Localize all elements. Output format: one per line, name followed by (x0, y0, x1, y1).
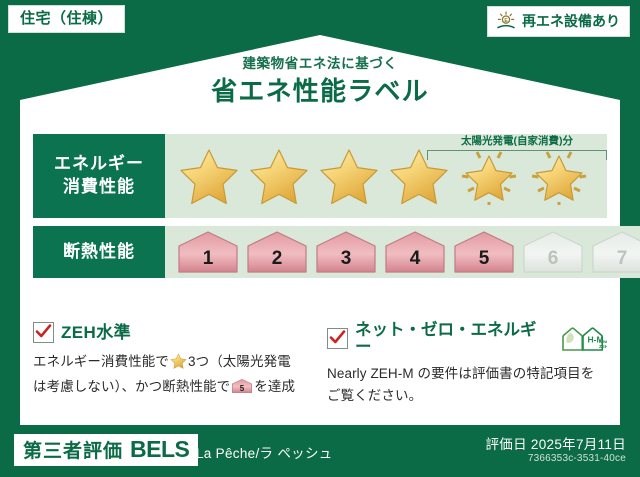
insulation-level-badge: 4 (382, 229, 448, 275)
bels-evaluation-mark: 第三者評価 BELS (14, 434, 198, 466)
statement-nze-title: ネット・ゼロ・エネルギー (355, 322, 551, 355)
page-title: 省エネ性能ラベル (0, 77, 640, 106)
statement-zeh-title: ZEH水準 (61, 324, 131, 341)
star-icon (315, 141, 383, 211)
star-icon (170, 353, 187, 376)
insulation-level-badge: 5 (451, 229, 517, 275)
energy-performance-body: 太陽光発電(自家消費)分 (165, 134, 607, 218)
building-name: La Pêche/ラ ペッシュ (196, 442, 333, 462)
checkbox-checked-icon (327, 328, 348, 349)
zeh-m-logo-icon: H-M Nearly ZEH-M (561, 326, 607, 352)
statement-zeh-header: ZEH水準 (33, 322, 313, 343)
insulation-level-number: 1 (175, 249, 241, 268)
insulation-level-number: 6 (520, 249, 586, 268)
insulation-level-number: 3 (313, 249, 379, 268)
star-solar-icon (525, 141, 593, 211)
renewable-energy-badge: E 再エネ設備あり (487, 6, 630, 37)
insulation-level-number: 4 (382, 249, 448, 268)
energy-performance-label: エネルギー 消費性能 (33, 134, 165, 218)
insulation-performance-body: 1 2 3 (165, 226, 640, 278)
insulation-level-number: 5 (451, 249, 517, 268)
insulation-level-badge: 1 (175, 229, 241, 275)
insulation-level-badge: 3 (313, 229, 379, 275)
svg-text:5: 5 (240, 384, 245, 393)
insulation-label-text: 断熱性能 (63, 241, 135, 264)
energy-performance-row: エネルギー 消費性能 (33, 134, 607, 218)
renewable-badge-label: 再エネ設備あり (522, 14, 620, 28)
star-icon (245, 141, 313, 211)
svg-text:ZEH-M: ZEH-M (599, 344, 607, 349)
insulation-level-badge-inactive: 6 (520, 229, 586, 275)
star-solar-icon (455, 141, 523, 211)
zeh-body-part1: エネルギー消費性能で (33, 354, 169, 369)
insulation-level-badge-inline: 5 (231, 378, 253, 401)
statement-zeh: ZEH水準 エネルギー消費性能で3つ（太陽光発電は考慮しない）、かつ断熱性能で5… (33, 322, 313, 407)
insulation-level-scale: 1 2 3 (165, 229, 640, 275)
insulation-level-number: 7 (589, 249, 640, 268)
statements-block: ZEH水準 エネルギー消費性能で3つ（太陽光発電は考慮しない）、かつ断熱性能で5… (33, 322, 607, 407)
energy-label-line1: エネルギー (54, 153, 144, 176)
insulation-performance-label: 断熱性能 (33, 226, 165, 278)
insulation-level-badge: 2 (244, 229, 310, 275)
zeh-body-part3: は考慮しない）、かつ断熱性能で (33, 379, 230, 394)
category-tag: 住宅（住棟） (8, 5, 125, 33)
insulation-performance-row: 断熱性能 1 (33, 226, 607, 278)
star-icon (385, 141, 453, 211)
insulation-level-number: 2 (244, 249, 310, 268)
star-icon (175, 141, 243, 211)
solar-sun-icon: E (495, 11, 517, 31)
zeh-body-part2: 3つ（太陽光発電 (188, 354, 291, 369)
metric-rows: エネルギー 消費性能 (33, 134, 607, 286)
evaluation-id: 7366353c-3531-40ce (528, 453, 626, 464)
bottom-bar: 第三者評価 BELS La Pêche/ラ ペッシュ 評価日 2025年7月11… (0, 425, 640, 477)
insulation-level-badge-inactive: 7 (589, 229, 640, 275)
statement-net-zero-energy: ネット・ゼロ・エネルギー H-M Nearly ZEH-M Nearly ZEH… (327, 322, 607, 407)
evaluation-date: 評価日 2025年7月11日 (485, 433, 626, 453)
energy-label-root: 住宅（住棟） E 再エネ設備あり 建築物省エネ法に基づく 省エネ性能ラベル (0, 0, 640, 477)
star-rating (165, 141, 593, 211)
zeh-body-part4: を達成 (254, 379, 295, 394)
statement-nze-header: ネット・ゼロ・エネルギー H-M Nearly ZEH-M (327, 322, 607, 355)
statement-zeh-body: エネルギー消費性能で3つ（太陽光発電は考慮しない）、かつ断熱性能で5を達成 (33, 351, 313, 401)
bels-logo-text: BELS (130, 438, 189, 461)
title-block: 建築物省エネ法に基づく 省エネ性能ラベル (0, 56, 640, 106)
title-subtitle: 建築物省エネ法に基づく (0, 56, 640, 72)
checkbox-checked-icon (33, 322, 54, 343)
bels-jp-label: 第三者評価 (23, 442, 123, 461)
energy-label-line2: 消費性能 (63, 176, 135, 199)
statement-nze-body: Nearly ZEH-M の要件は評価書の特記項目をご覧ください。 (327, 363, 607, 407)
